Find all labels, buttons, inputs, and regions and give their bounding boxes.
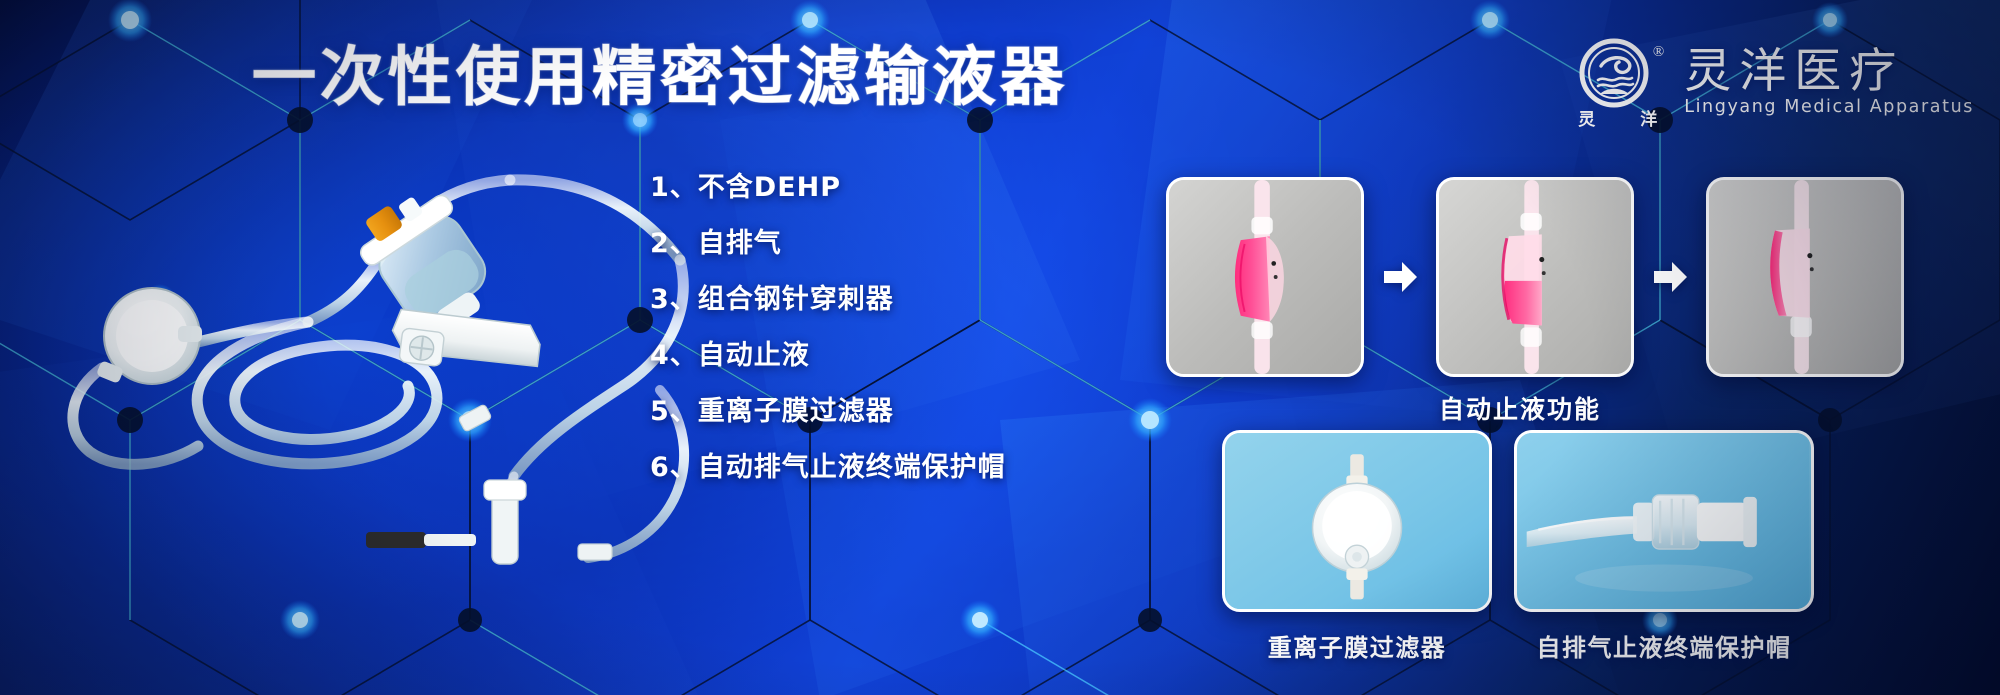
brand-logo: ® 灵 洋 灵洋医疗 Lingyang Medical Apparatus <box>1574 36 1974 128</box>
emblem-char-right: 洋 <box>1640 105 1658 130</box>
drip-chamber-half-photo <box>1439 180 1631 374</box>
terminal-protective-cap-photo <box>1517 433 1811 609</box>
drip-chamber-empty-photo <box>1709 180 1901 374</box>
bottom-photo-row <box>1222 430 1814 612</box>
arrow-right-icon <box>1650 257 1690 297</box>
feature-item-1: 1、不含DEHP <box>650 172 1006 203</box>
emblem-subtext: 灵 洋 <box>1574 105 1662 130</box>
needle-assembly-part <box>366 480 526 564</box>
strip-caption: 自动止液功能 <box>1166 390 1874 426</box>
brand-name-en: Lingyang Medical Apparatus <box>1684 99 1974 117</box>
feature-item-4: 4、自动止液 <box>650 340 1006 371</box>
bottom-photo-filter <box>1222 430 1492 612</box>
round-filter-part <box>96 288 202 384</box>
feature-item-6: 6、自动排气止液终端保护帽 <box>650 452 1006 483</box>
brand-names: 灵洋医疗 Lingyang Medical Apparatus <box>1684 48 1974 117</box>
arrow-right-icon-1 <box>1377 254 1423 300</box>
hero-product-image <box>40 140 700 570</box>
circular-wave-swimmer-emblem-icon: ® 灵 洋 <box>1574 36 1662 128</box>
sequence-photo-2 <box>1436 177 1634 377</box>
bottom-captions: 重离子膜过滤器 自排气止液终端保护帽 <box>1222 628 1814 663</box>
slide-clamp-part <box>458 404 612 560</box>
feature-item-5: 5、重离子膜过滤器 <box>650 396 1006 427</box>
roller-clamp-part <box>389 309 542 379</box>
bottom-caption-cap: 自排气止液终端保护帽 <box>1514 628 1814 663</box>
auto-stop-sequence-strip <box>1166 177 1904 377</box>
registered-mark: ® <box>1653 44 1664 61</box>
sequence-photo-3 <box>1706 177 1904 377</box>
iv-infusion-set-photo <box>40 140 700 570</box>
feature-item-3: 3、组合钢针穿刺器 <box>650 284 1006 315</box>
emblem-circle-icon <box>1574 36 1662 110</box>
brand-name-cn: 灵洋医疗 <box>1684 48 1974 95</box>
feature-item-2: 2、自排气 <box>650 228 1006 259</box>
arrow-right-icon-2 <box>1647 254 1693 300</box>
emblem-char-left: 灵 <box>1578 105 1596 130</box>
round-membrane-filter-photo <box>1225 433 1489 609</box>
product-banner: 一次性使用精密过滤输液器 ® 灵 洋 灵洋医疗 Lingyang Medical… <box>0 0 2000 695</box>
arrow-right-icon <box>1380 257 1420 297</box>
feature-list: 1、不含DEHP 2、自排气 3、组合钢针穿刺器 4、自动止液 5、重离子膜过滤… <box>650 172 1006 483</box>
bottom-photo-cap <box>1514 430 1814 612</box>
page-title: 一次性使用精密过滤输液器 <box>252 46 1068 110</box>
sequence-photo-1 <box>1166 177 1364 377</box>
drip-chamber-full-photo <box>1169 180 1361 374</box>
bottom-caption-filter: 重离子膜过滤器 <box>1222 628 1492 663</box>
